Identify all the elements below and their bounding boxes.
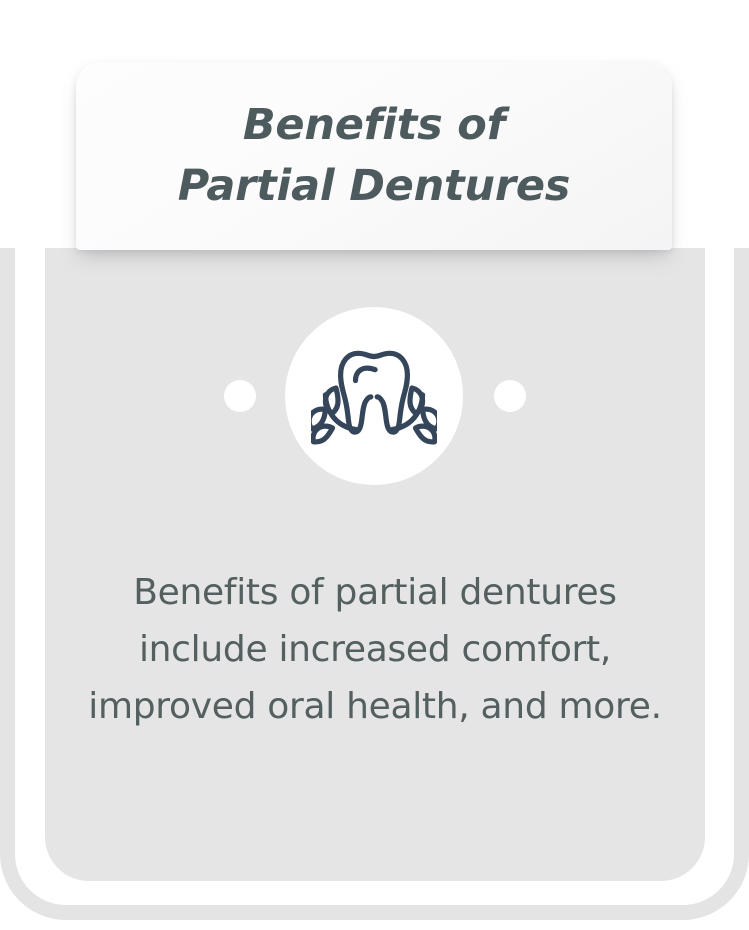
tooth-laurel-icon bbox=[311, 340, 437, 452]
icon-row bbox=[45, 290, 705, 502]
card-body-text: Benefits of partial dentures include inc… bbox=[85, 565, 665, 736]
content-card-body: Benefits of partial dentures include inc… bbox=[45, 248, 705, 881]
page-title: Benefits of Partial Dentures bbox=[178, 95, 570, 217]
accent-dot-left-icon bbox=[224, 380, 256, 412]
content-card-stage: Benefits of partial dentures include inc… bbox=[0, 0, 749, 930]
card-header-panel: Benefits of Partial Dentures bbox=[76, 62, 672, 250]
icon-badge bbox=[285, 307, 463, 485]
accent-dot-right-icon bbox=[494, 380, 526, 412]
